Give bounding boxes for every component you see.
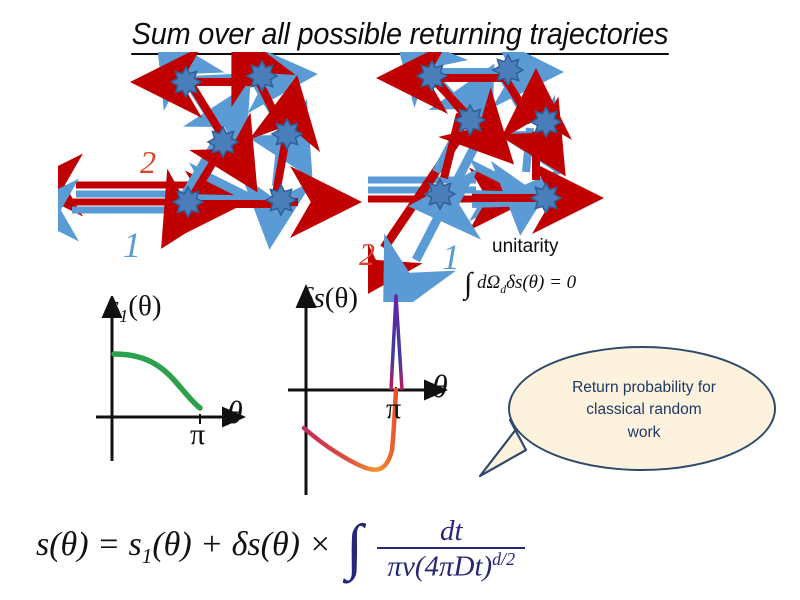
delta-s-peak-curve <box>391 296 402 390</box>
s1-pi-label: π <box>190 418 205 452</box>
scatterer-star <box>171 67 201 97</box>
scatterer-star <box>531 107 561 137</box>
scatterer-star <box>266 185 296 215</box>
loop-red-seg <box>192 86 224 138</box>
bubble-line-2: classical random <box>586 399 701 421</box>
formula-fraction: dt πν(4πDt)d/2 <box>377 516 525 582</box>
formula-integral-sign: ∫ <box>346 513 363 581</box>
slide-canvas: Sum over all possible returning trajecto… <box>0 0 800 600</box>
callout-bubble: Return probability for classical random … <box>508 346 776 471</box>
scatterer-star <box>417 61 447 91</box>
scatterer-star <box>493 55 523 85</box>
bubble-line-3: work <box>628 422 661 444</box>
unitarity-label: unitarity <box>492 236 559 258</box>
delta-s-y-label: δs(θ) <box>300 282 358 315</box>
path-label-2-right: 2 <box>359 236 375 273</box>
formula-lhs-rest: (θ) + δs(θ) × <box>152 526 331 563</box>
path-label-2-left: 2 <box>140 144 156 181</box>
delta-s-pi-label: π <box>386 392 401 426</box>
path-label-1-left: 1 <box>123 224 141 266</box>
formula-denominator: πν(4πDt)d/2 <box>377 547 525 582</box>
delta-s-x-label: θ <box>432 368 448 405</box>
s1-y-label: s1(θ) <box>108 290 162 327</box>
formula-lhs-sub: 1 <box>142 544 153 568</box>
page-title-text: Sum over all possible returning trajecto… <box>132 16 669 55</box>
loop-blue-seg <box>472 202 534 204</box>
s1-curve <box>114 354 200 408</box>
scatterer-star <box>272 119 302 149</box>
s1-plot: s1(θ) θ π <box>96 296 311 461</box>
bubble-line-1: Return probability for <box>572 377 716 399</box>
formula-numerator: dt <box>377 516 525 546</box>
loop-blue-seg <box>526 128 530 172</box>
scatterer-star <box>173 187 203 217</box>
path-label-1-right: 1 <box>442 236 460 278</box>
diagram-left: 2 1 <box>58 52 378 302</box>
main-formula: s(θ) = s1(θ) + δs(θ) × ∫ dt πν(4πDt)d/2 <box>36 500 513 580</box>
delta-s-negative-curve <box>304 390 396 470</box>
s1-x-label: θ <box>227 394 243 431</box>
diagram-left-svg <box>58 52 378 302</box>
callout-bubble-text: Return probability for classical random … <box>510 348 778 473</box>
loop-red-seg <box>506 80 532 122</box>
scatterer-star <box>208 127 238 157</box>
scatterer-star <box>425 179 455 209</box>
page-title: Sum over all possible returning trajecto… <box>28 16 772 52</box>
formula-lhs: s(θ) = s <box>36 526 142 563</box>
scatterer-star <box>455 105 485 135</box>
scatterer-star <box>247 61 277 91</box>
scatterer-star <box>531 183 561 213</box>
